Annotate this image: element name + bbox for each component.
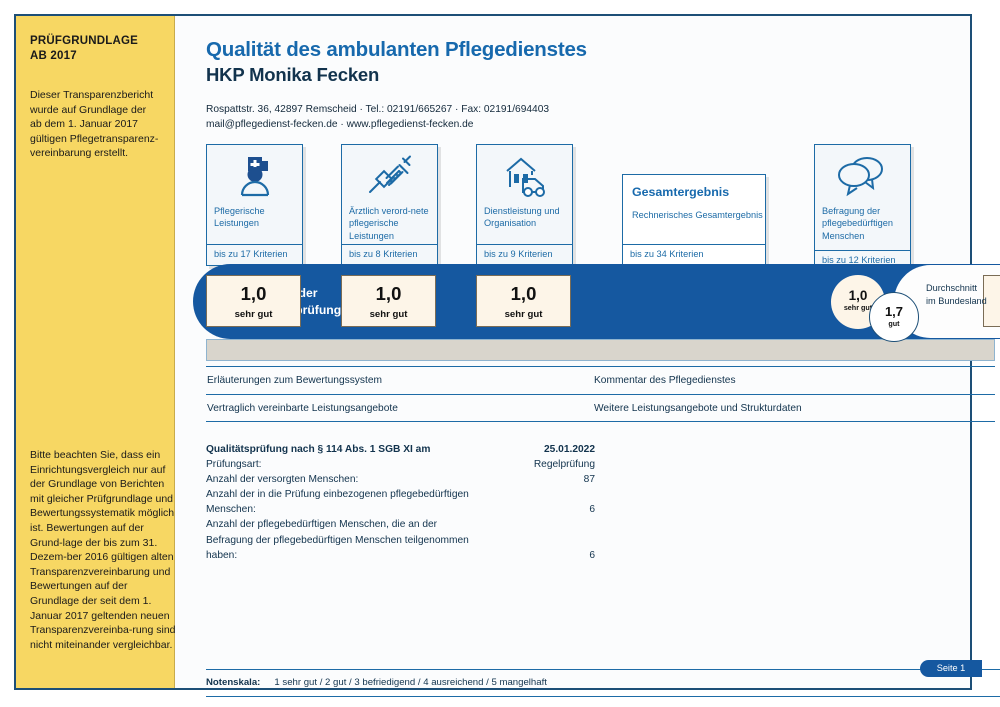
syringe-icon <box>342 145 437 201</box>
fact-value: 25.01.2022 <box>544 442 595 457</box>
overall-result-card: Gesamtergebnis Rechnerisches Gesamtergeb… <box>622 174 766 266</box>
score-grade: sehr gut <box>342 305 435 320</box>
table-row: Anzahl der pflegebedürftigen Menschen, d… <box>206 517 595 562</box>
provider-name: HKP Monika Fecken <box>206 64 970 86</box>
inspection-facts-table: Qualitätsprüfung nach § 114 Abs. 1 SGB X… <box>206 442 595 563</box>
sidebar-title-line2: AB 2017 <box>30 49 160 64</box>
house-van-icon <box>477 145 572 201</box>
grade-scale-label: Notenskala: <box>206 677 260 688</box>
category-criteria: bis zu 8 Kriterien <box>342 244 437 265</box>
sidebar-intro-text: Dieser Transparenzbericht wurde auf Grun… <box>30 88 160 161</box>
overall-heading: Gesamtergebnis <box>623 175 765 199</box>
report-header: Qualität des ambulanten Pflegedienstes H… <box>175 16 970 132</box>
table-row: Anzahl der in die Prüfung einbezogenen p… <box>206 487 595 517</box>
average-score-value: 1,7 <box>870 293 918 319</box>
overall-label: Rechnerisches Gesamtergebnis <box>623 199 765 221</box>
category-card-aerztlich-verordnete-leistungen: Ärztlich verord-nete pflegerische Leistu… <box>341 144 438 266</box>
result-bar: Ergebnis der Qualitätsprüfung 1,0 sehr g… <box>193 264 1000 339</box>
nurse-icon <box>207 145 302 201</box>
fact-value: Regelprüfung <box>534 457 595 472</box>
category-label: Dienstleistung und Organisation <box>477 201 572 230</box>
link-weitere-leistungsangebote-strukturdaten[interactable]: Weitere Leistungsangebote und Strukturda… <box>594 403 802 414</box>
category-card-dienstleistung-organisation: Dienstleistung und Organisation bis zu 9… <box>476 144 573 266</box>
state-average-circle: 1,7 gut <box>869 292 919 342</box>
main-content: Qualität des ambulanten Pflegedienstes H… <box>175 16 970 688</box>
table-row: Anzahl der versorgten Menschen: 87 <box>206 472 595 487</box>
category-criteria: bis zu 17 Kriterien <box>207 244 302 265</box>
page-title: Qualität des ambulanten Pflegedienstes <box>206 38 970 62</box>
score-grade: sehr gut <box>207 305 300 320</box>
score-box-aerztlich-verordnete: 1,0 sehr gut <box>341 275 436 327</box>
link-rows: Erläuterungen zum Bewertungssystem Komme… <box>206 366 995 422</box>
speech-bubbles-icon <box>815 145 910 201</box>
score-grade: sehr gut <box>984 305 1000 320</box>
sidebar: PRÜFGRUNDLAGE AB 2017 Dieser Transparenz… <box>16 16 175 688</box>
footer-divider-bottom <box>206 696 1000 697</box>
report-page: PRÜFGRUNDLAGE AB 2017 Dieser Transparenz… <box>14 14 972 690</box>
fact-value: 87 <box>584 472 595 487</box>
score-value: 1,0 <box>207 276 300 305</box>
page-number-badge: Seite 1 <box>920 660 982 677</box>
sidebar-title-line1: PRÜFGRUNDLAGE <box>30 34 160 49</box>
table-row: Prüfungsart: Regelprüfung <box>206 457 595 472</box>
average-label-line2: im Bundesland <box>926 295 987 308</box>
sidebar-note-text: Bitte beachten Sie, dass ein Einrichtung… <box>30 448 176 652</box>
score-box-dienstleistung: 1,0 sehr gut <box>476 275 571 327</box>
provider-address: Rospattstr. 36, 42897 Remscheid · Tel.: … <box>206 103 970 132</box>
category-label: Pflegerische Leistungen <box>207 201 302 230</box>
category-card-pflegerische-leistungen: Pflegerische Leistungen bis zu 17 Kriter… <box>206 144 303 266</box>
link-kommentar-pflegedienst[interactable]: Kommentar des Pflegedienstes <box>594 375 736 386</box>
sidebar-title: PRÜFGRUNDLAGE AB 2017 <box>30 34 160 64</box>
fact-value: 6 <box>589 502 595 517</box>
state-average-label: Durchschnitt im Bundesland <box>926 282 987 307</box>
fact-label: Anzahl der versorgten Menschen: <box>206 472 474 487</box>
category-label: Ärztlich verord-nete pflegerische Leistu… <box>342 201 437 242</box>
score-value: 1,0 <box>342 276 435 305</box>
link-row: Erläuterungen zum Bewertungssystem Komme… <box>206 366 995 394</box>
fact-label: Prüfungsart: <box>206 457 474 472</box>
link-vertraglich-vereinbarte-leistungsangebote[interactable]: Vertraglich vereinbarte Leistungsangebot… <box>207 403 398 414</box>
fact-label: Anzahl der in die Prüfung einbezogenen p… <box>206 487 474 517</box>
average-label-line1: Durchschnitt <box>926 282 987 295</box>
fact-label: Qualitätsprüfung nach § 114 Abs. 1 SGB X… <box>206 442 474 457</box>
table-row: Qualitätsprüfung nach § 114 Abs. 1 SGB X… <box>206 442 595 457</box>
grade-scale: Notenskala:1 sehr gut / 2 gut / 3 befrie… <box>206 677 547 688</box>
category-card-befragung: Befragung der pflegebedürftigen Menschen… <box>814 144 911 272</box>
overall-criteria: bis zu 34 Kriterien <box>623 244 765 265</box>
link-erlaeuterungen-bewertungssystem[interactable]: Erläuterungen zum Bewertungssystem <box>207 375 382 386</box>
grey-band-divider <box>206 339 995 361</box>
score-value: 1,0 <box>477 276 570 305</box>
category-criteria: bis zu 9 Kriterien <box>477 244 572 265</box>
fact-label: Anzahl der pflegebedürftigen Menschen, d… <box>206 517 474 562</box>
score-grade: sehr gut <box>477 305 570 320</box>
footer-divider-top <box>206 669 1000 670</box>
link-row: Vertraglich vereinbarte Leistungsangebot… <box>206 394 995 422</box>
average-score-grade: gut <box>870 319 918 328</box>
address-line-2: mail@pflegedienst-fecken.de · www.pflege… <box>206 118 970 133</box>
category-label: Befragung der pflegebedürftigen Menschen <box>815 201 910 242</box>
fact-value: 6 <box>589 548 595 563</box>
address-line-1: Rospattstr. 36, 42897 Remscheid · Tel.: … <box>206 103 970 118</box>
score-box-pflegerische-leistungen: 1,0 sehr gut <box>206 275 301 327</box>
category-strip: Pflegerische Leistungen bis zu 17 Kriter… <box>206 144 966 266</box>
grade-scale-value: 1 sehr gut / 2 gut / 3 befriedigend / 4 … <box>274 677 547 688</box>
